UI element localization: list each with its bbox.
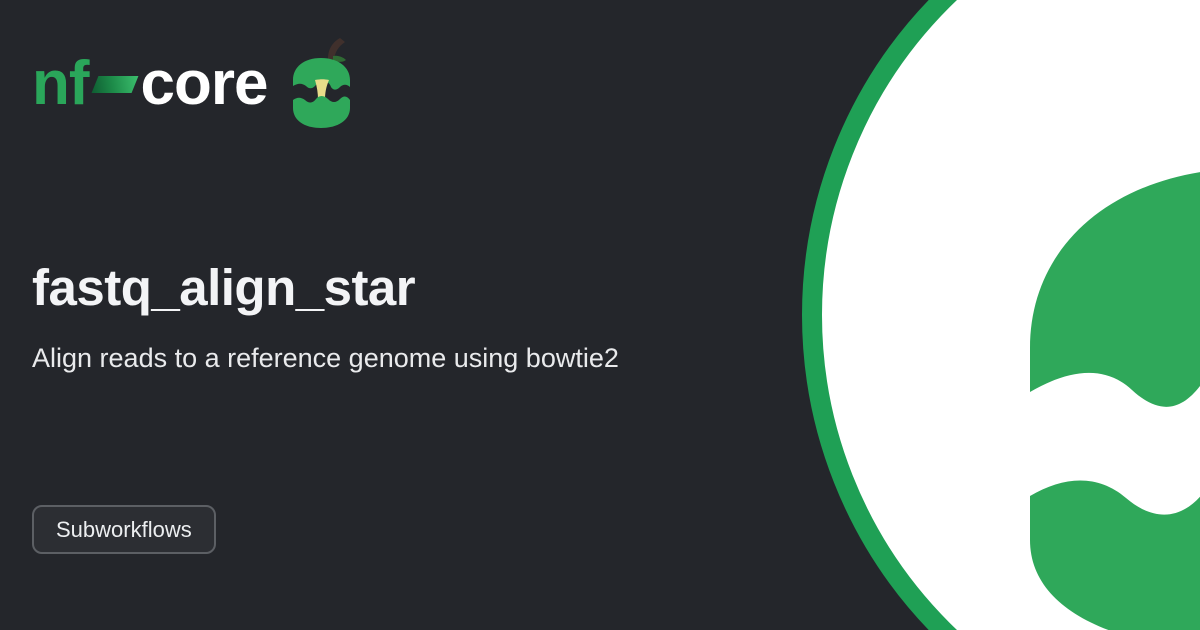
category-badge-label: Subworkflows [56, 517, 192, 543]
logo-prefix-text: nf [32, 48, 89, 120]
hero-apple-core-icon [972, 0, 1200, 630]
hero-circle-badge [802, 0, 1200, 630]
page-title: fastq_align_star [32, 258, 415, 317]
apple-core-icon [288, 38, 354, 130]
logo-apple-bottom [293, 96, 350, 128]
logo-suffix-text: core [141, 48, 268, 120]
category-badge[interactable]: Subworkflows [32, 505, 216, 554]
nf-core-logo[interactable]: nf core [32, 48, 354, 120]
logo-hyphen-icon [91, 76, 138, 93]
hero-apple-bottom [1030, 467, 1200, 630]
poster-canvas: nf core fastq_align_star Align reads to … [0, 0, 1200, 630]
hero-apple-top [1030, 168, 1200, 414]
page-subtitle: Align reads to a reference genome using … [32, 343, 619, 374]
